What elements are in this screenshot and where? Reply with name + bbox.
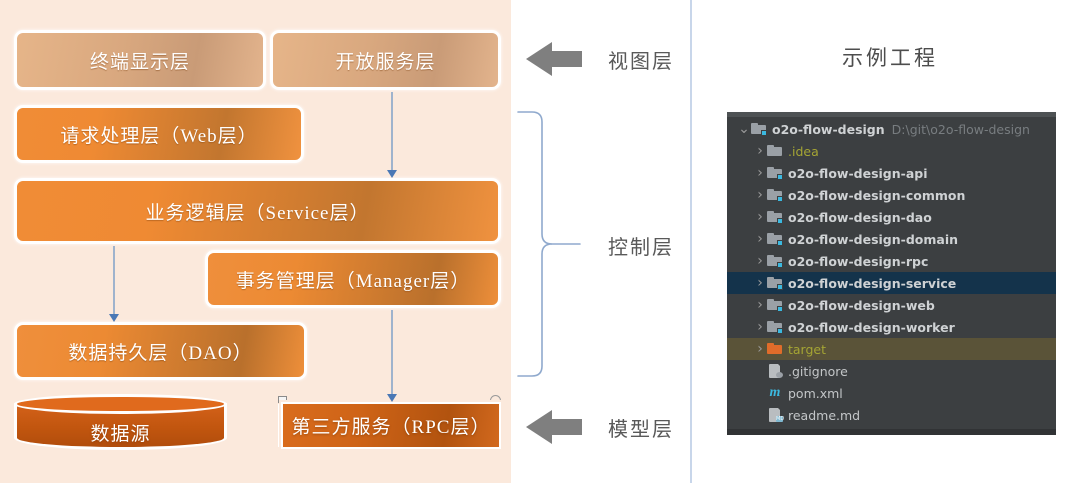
chevron-right-icon[interactable]: › [753, 342, 767, 356]
module-folder-icon [767, 320, 783, 334]
callout-model-layer: 模型层 [526, 410, 674, 444]
tree-row[interactable]: ›o2o-flow-design-service [727, 272, 1056, 294]
tree-item-label: o2o-flow-design-web [788, 298, 935, 313]
tree-row[interactable]: ›.idea [727, 140, 1056, 162]
module-folder-icon [767, 232, 783, 246]
architecture-diagram-panel: 终端显示层 开放服务层 请求处理层（Web层） 业务逻辑层（Service层） … [0, 0, 511, 483]
tree-row[interactable]: ›target [727, 338, 1056, 360]
tree-item-label: o2o-flow-design-rpc [788, 254, 928, 269]
tree-row[interactable]: ›o2o-flow-design-web [727, 294, 1056, 316]
project-file-tree-list: ⌄o2o-flow-designD:\git\o2o-flow-design›.… [727, 118, 1056, 426]
tree-item-label: .idea [788, 144, 819, 159]
chevron-right-icon[interactable]: › [753, 254, 767, 268]
tree-item-label: o2o-flow-design-service [788, 276, 956, 291]
chevron-right-icon[interactable]: › [753, 188, 767, 202]
maven-file-icon: m [767, 386, 783, 400]
tree-row[interactable]: ›o2o-flow-design-worker [727, 316, 1056, 338]
connector-stem [391, 92, 393, 170]
chevron-right-icon[interactable]: › [753, 144, 767, 158]
layer-box-service[interactable]: 业务逻辑层（Service层） [14, 178, 501, 244]
layer-cylinder-datasource[interactable]: 数据源 [14, 394, 227, 456]
layer-box-label: 终端显示层 [90, 47, 190, 74]
tree-row[interactable]: ›o2o-flow-design-rpc [727, 250, 1056, 272]
project-file-tree-panel[interactable]: ⌄o2o-flow-designD:\git\o2o-flow-design›.… [727, 112, 1056, 435]
module-folder-icon [767, 210, 783, 224]
chevron-right-icon[interactable]: › [753, 210, 767, 224]
layer-box-label: 第三方服务（RPC层） [292, 412, 491, 439]
chevron-down-icon[interactable]: ⌄ [737, 122, 751, 136]
callout-view-layer: 视图层 [526, 42, 674, 76]
module-folder-icon [767, 276, 783, 290]
tree-row[interactable]: .gitignore [727, 360, 1056, 382]
layer-box-label: 业务逻辑层（Service层） [146, 198, 370, 225]
tree-item-label: o2o-flow-design [772, 122, 885, 137]
tree-item-label: target [788, 342, 826, 357]
brace-control-layer [516, 110, 582, 378]
tree-panel-top-edge [727, 112, 1056, 117]
layer-box-label: 请求处理层（Web层） [60, 121, 257, 148]
project-section-title: 示例工程 [700, 42, 1080, 72]
tree-item-label: o2o-flow-design-worker [788, 320, 955, 335]
connector-arrowhead-icon [387, 394, 397, 402]
chevron-right-icon[interactable]: › [753, 320, 767, 334]
tree-panel-bottom-edge [727, 429, 1056, 435]
tree-item-label: o2o-flow-design-api [788, 166, 928, 181]
folder-icon [767, 144, 783, 158]
tree-row[interactable]: ›o2o-flow-design-common [727, 184, 1056, 206]
left-arrow-icon [526, 410, 582, 444]
connector-arrowhead-icon [387, 170, 397, 178]
tree-item-label: pom.xml [788, 386, 843, 401]
folder-orange-icon [767, 342, 783, 356]
layer-box-web[interactable]: 请求处理层（Web层） [14, 105, 304, 163]
tree-row[interactable]: ›o2o-flow-design-domain [727, 228, 1056, 250]
tree-row[interactable]: MDreadme.md [727, 404, 1056, 426]
connector-stem [113, 246, 115, 314]
cylinder-label: 数据源 [14, 410, 227, 454]
callout-label: 视图层 [608, 45, 674, 74]
tree-item-label: readme.md [788, 408, 860, 423]
chevron-right-icon[interactable]: › [753, 276, 767, 290]
tree-item-label: o2o-flow-design-domain [788, 232, 958, 247]
screenshot-root: 终端显示层 开放服务层 请求处理层（Web层） 业务逻辑层（Service层） … [0, 0, 1080, 483]
layer-box-terminal-display[interactable]: 终端显示层 [14, 30, 266, 90]
layer-box-manager[interactable]: 事务管理层（Manager层） [205, 250, 501, 308]
layer-box-label: 开放服务层 [335, 47, 435, 74]
tree-item-label: o2o-flow-design-dao [788, 210, 932, 225]
layer-box-rpc-selected[interactable]: 第三方服务（RPC层） [281, 402, 501, 449]
layer-box-label: 数据持久层（DAO） [68, 338, 252, 365]
tree-item-label: .gitignore [788, 364, 848, 379]
module-folder-icon [767, 298, 783, 312]
tree-item-path: D:\git\o2o-flow-design [892, 122, 1030, 137]
tree-row[interactable]: ›o2o-flow-design-api [727, 162, 1056, 184]
tree-row[interactable]: mpom.xml [727, 382, 1056, 404]
gitignore-file-icon [767, 364, 783, 378]
module-folder-icon [751, 122, 767, 136]
layer-box-label: 事务管理层（Manager层） [236, 266, 471, 293]
callout-label: 模型层 [608, 413, 674, 442]
connector-stem [391, 310, 393, 394]
markdown-file-icon: MD [767, 408, 783, 422]
chevron-right-icon[interactable]: › [753, 298, 767, 312]
callout-label-control-layer: 控制层 [608, 231, 674, 260]
chevron-right-icon[interactable]: › [753, 232, 767, 246]
connector-arrowhead-icon [109, 314, 119, 322]
vertical-divider [690, 0, 692, 483]
tree-row[interactable]: ⌄o2o-flow-designD:\git\o2o-flow-design [727, 118, 1056, 140]
tree-item-label: o2o-flow-design-common [788, 188, 965, 203]
module-folder-icon [767, 166, 783, 180]
module-folder-icon [767, 188, 783, 202]
module-folder-icon [767, 254, 783, 268]
tree-row[interactable]: ›o2o-flow-design-dao [727, 206, 1056, 228]
layer-box-open-service[interactable]: 开放服务层 [270, 30, 501, 90]
left-arrow-icon [526, 42, 582, 76]
layer-box-dao[interactable]: 数据持久层（DAO） [14, 322, 307, 380]
chevron-right-icon[interactable]: › [753, 166, 767, 180]
